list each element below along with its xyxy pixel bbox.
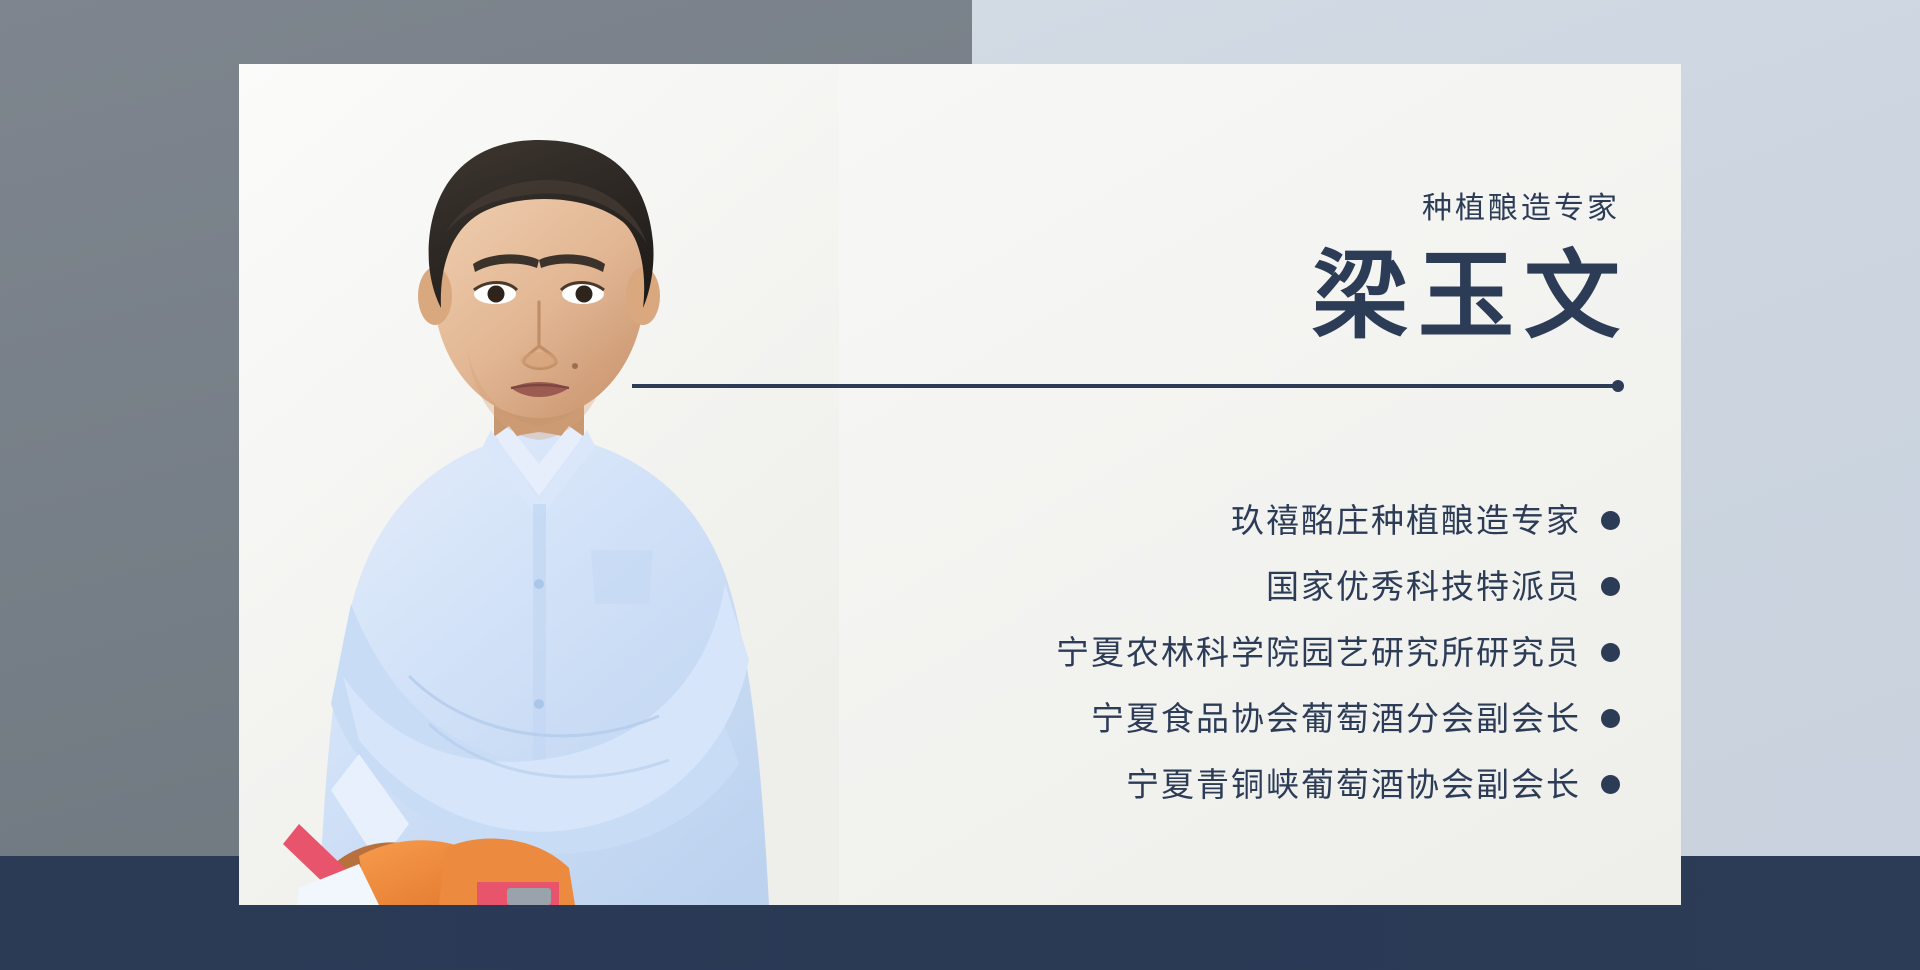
credential-label: 宁夏农林科学院园艺研究所研究员: [1056, 636, 1581, 669]
list-item: 宁夏青铜峡葡萄酒协会副会长: [1056, 751, 1620, 817]
list-item: 国家优秀科技特派员: [1056, 553, 1620, 619]
list-item: 玖禧酩庄种植酿造专家: [1056, 487, 1620, 553]
text-column: 种植酿造专家 梁玉文 玖禧酩庄种植酿造专家 国家优秀科技特派员 宁夏农林科学院园…: [720, 64, 1620, 905]
credential-label: 宁夏青铜峡葡萄酒协会副会长: [1126, 768, 1581, 801]
role-subtitle: 种植酿造专家: [1422, 194, 1620, 224]
credential-label: 宁夏食品协会葡萄酒分会副会长: [1091, 702, 1581, 735]
credential-label: 玖禧酩庄种植酿造专家: [1231, 504, 1581, 537]
profile-card: 种植酿造专家 梁玉文 玖禧酩庄种植酿造专家 国家优秀科技特派员 宁夏农林科学院园…: [239, 64, 1681, 905]
bullet-dot-icon: [1601, 709, 1620, 728]
person-name: 梁玉文: [1312, 247, 1630, 348]
bullet-dot-icon: [1601, 643, 1620, 662]
bullet-dot-icon: [1601, 577, 1620, 596]
bullet-dot-icon: [1601, 775, 1620, 794]
poster-stage: 种植酿造专家 梁玉文 玖禧酩庄种植酿造专家 国家优秀科技特派员 宁夏农林科学院园…: [0, 0, 1920, 970]
list-item: 宁夏农林科学院园艺研究所研究员: [1056, 619, 1620, 685]
credential-list: 玖禧酩庄种植酿造专家 国家优秀科技特派员 宁夏农林科学院园艺研究所研究员 宁夏食…: [1056, 487, 1620, 817]
bullet-dot-icon: [1601, 511, 1620, 530]
credential-label: 国家优秀科技特派员: [1266, 570, 1581, 603]
list-item: 宁夏食品协会葡萄酒分会副会长: [1056, 685, 1620, 751]
